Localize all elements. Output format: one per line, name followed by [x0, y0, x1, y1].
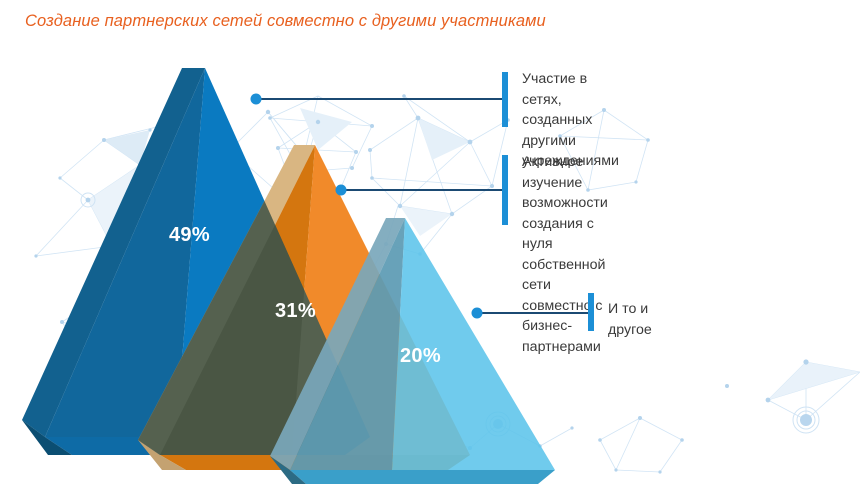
legend-label: Активное изучение возможности создания с…	[522, 152, 608, 357]
segment-percent-label: 49%	[169, 224, 210, 247]
connector-line-1	[251, 94, 503, 105]
connector-dot-icon	[472, 308, 483, 319]
triangle-chart	[0, 0, 860, 487]
legend-accent-bar-icon	[588, 293, 594, 331]
page-title: Создание партнерских сетей совместно с д…	[25, 12, 546, 31]
segment-percent-label: 20%	[400, 345, 441, 368]
connector-dot-icon	[251, 94, 262, 105]
segment-percent-label: 31%	[275, 300, 316, 323]
legend-label: И то и другое	[608, 299, 652, 340]
legend-accent-bar-icon	[502, 155, 508, 225]
connector-dot-icon	[336, 185, 347, 196]
infographic-canvas: Создание партнерских сетей совместно с д…	[0, 0, 860, 487]
connector-line-2	[336, 185, 503, 196]
legend-accent-bar-icon	[502, 72, 508, 127]
